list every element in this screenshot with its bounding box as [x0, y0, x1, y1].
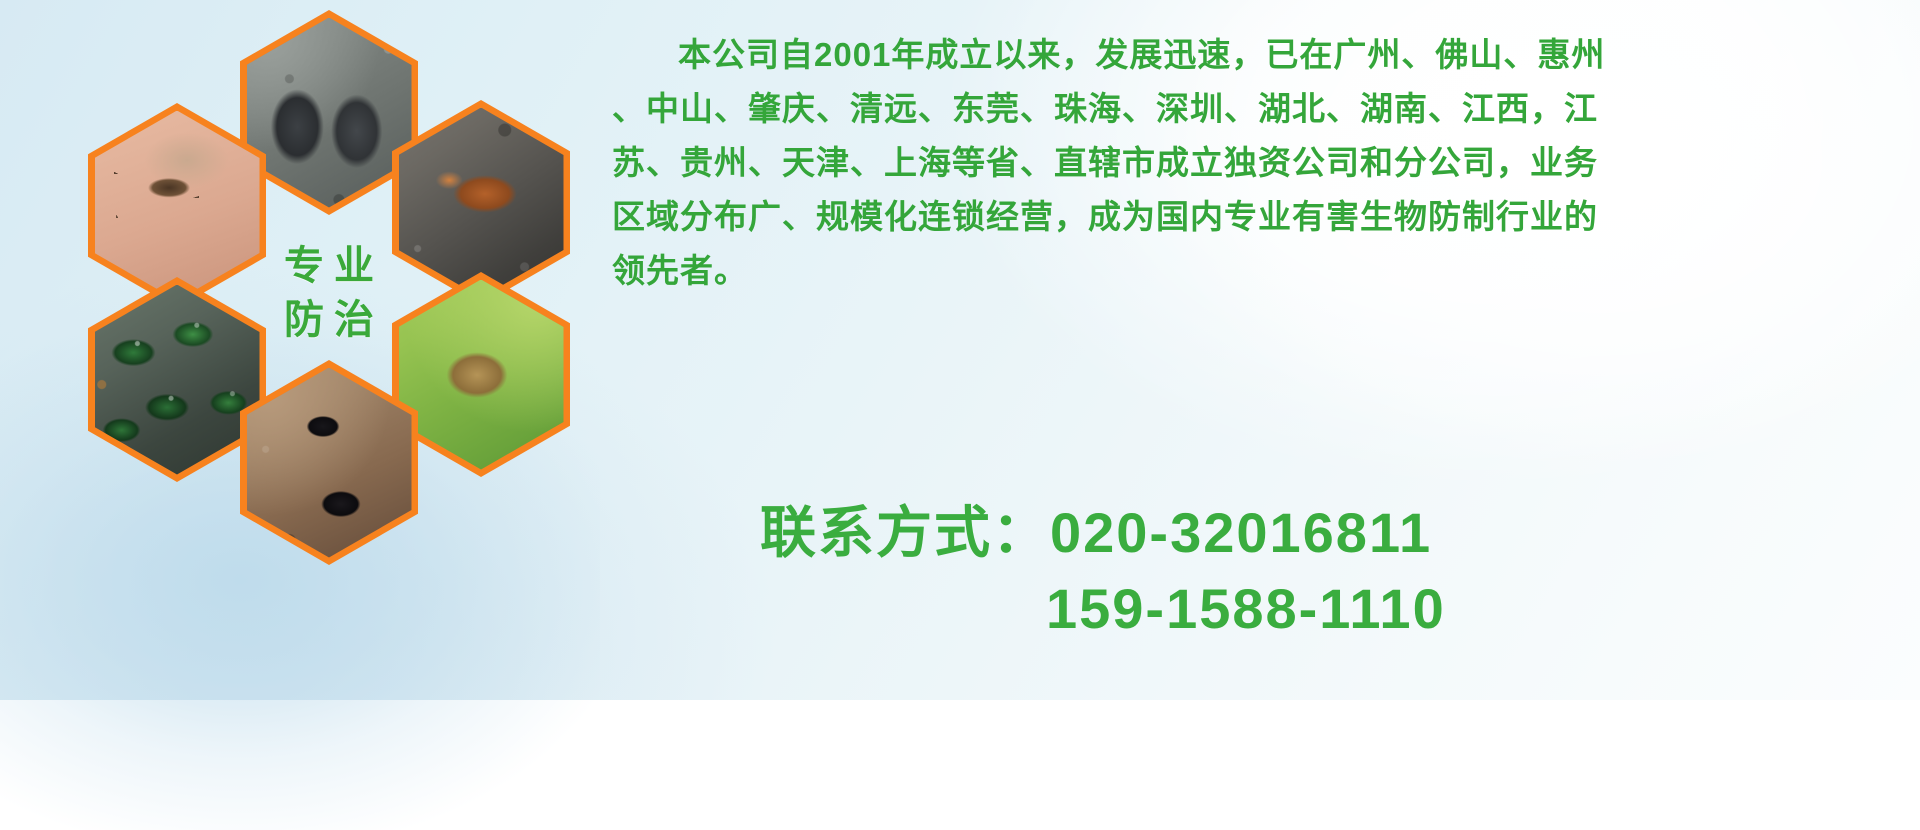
mosquito-on-skin-image — [95, 111, 260, 301]
cockroach-on-concrete-image — [399, 108, 564, 298]
hex-photo-inner — [399, 108, 564, 298]
promo-banner: 专业 防治 本公司自2001年成立以来，发展迅速，已在广州、佛山、惠州 、中山、… — [0, 0, 1920, 700]
hex-photo-inner — [95, 111, 260, 301]
contact-primary-line[interactable]: 联系方式：020-32016811 — [760, 495, 1860, 571]
intro-copy-block: 本公司自2001年成立以来，发展迅速，已在广州、佛山、惠州 、中山、肇庆、清远、… — [612, 28, 1902, 298]
hex-photo-inner — [247, 18, 412, 208]
intro-paragraph-line-4: 区域分布广、规模化连锁经营，成为国内专业有害生物防制行业的 — [612, 190, 1902, 244]
rodents-on-ground-image — [247, 18, 412, 208]
intro-paragraph-line-5: 领先者。 — [612, 244, 1902, 298]
green-bottle-flies-image — [95, 285, 260, 475]
intro-paragraph-line-3: 苏、贵州、天津、上海等省、直辖市成立独资公司和分公司，业务 — [612, 136, 1902, 190]
intro-paragraph-line-2: 、中山、肇庆、清远、东莞、珠海、深圳、湖北、湖南、江西，江 — [612, 82, 1902, 136]
intro-paragraph-line-1: 本公司自2001年成立以来，发展迅速，已在广州、佛山、惠州 — [612, 28, 1902, 82]
intro-line-1-text: 本公司自2001年成立以来，发展迅速，已在广州、佛山、惠州 — [678, 36, 1605, 73]
hex-photo-inner — [95, 285, 260, 475]
contact-secondary-line[interactable]: 159-1588-1110 — [760, 571, 1860, 647]
hex-photo-rodents[interactable] — [240, 10, 418, 215]
contact-block: 联系方式：020-32016811 159-1588-1110 — [760, 495, 1860, 647]
hex-photo-inner — [399, 280, 564, 470]
slogan-line-2: 防治 — [274, 293, 384, 347]
honeycomb-photo-cluster: 专业 防治 — [80, 0, 600, 580]
slogan-line-1: 专业 — [274, 239, 384, 293]
stink-bug-on-leaf-image — [399, 280, 564, 470]
